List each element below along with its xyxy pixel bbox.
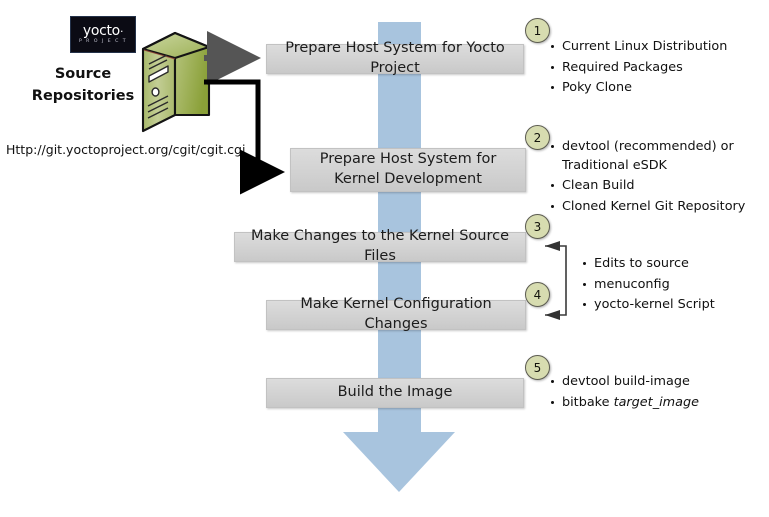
step-number-badge-5: 5 [525,355,550,380]
note-item: devtool (recommended) or Traditional eSD… [550,138,765,175]
notes-step-1: Current Linux DistributionRequired Packa… [550,38,765,100]
source-repositories-label: Source Repositories [18,64,148,108]
source-label-line1: Source [18,64,148,86]
yocto-project-logo: yocto· P R O J E C T [70,16,136,53]
bracket-arrow-step3 [545,241,560,251]
note-item: devtool build-image [550,373,765,392]
note-item: Clean Build [550,177,765,196]
step-box-prepare-host-kernel[interactable]: Prepare Host System for Kernel Developme… [290,148,526,192]
bracket-arrow-step4 [545,310,560,320]
notes-list-2: devtool (recommended) or Traditional eSD… [550,138,765,216]
step-number-badge-1: 1 [525,18,550,43]
yocto-logo-text: yocto [83,23,120,39]
note-item: Current Linux Distribution [550,38,765,57]
connector-server-to-step2 [204,82,280,172]
note-item: Poky Clone [550,79,765,98]
yocto-logo-subtext: P R O J E C T [79,40,127,45]
note-item: Cloned Kernel Git Repository [550,198,765,217]
notes-list-1: Current Linux DistributionRequired Packa… [550,38,765,98]
note-item: menuconfig [582,276,762,295]
notes-list-5: devtool build-imagebitbake target_image [550,373,765,412]
main-flow-arrow-head [343,432,455,492]
notes-step-2: devtool (recommended) or Traditional eSD… [550,138,765,218]
step-box-make-kernel-source-changes[interactable]: Make Changes to the Kernel Source Files [234,232,526,262]
server-tower-icon [140,27,212,134]
bracket-steps-3-4 [545,246,566,315]
step-number-badge-4: 4 [525,282,550,307]
step-number-badge-3: 3 [525,214,550,239]
step-box-make-kernel-config-changes[interactable]: Make Kernel Configuration Changes [266,300,526,330]
notes-steps-3-and-4: Edits to sourcemenuconfigyocto-kernel Sc… [582,255,762,317]
note-item: Edits to source [582,255,762,274]
notes-list-3-4: Edits to sourcemenuconfigyocto-kernel Sc… [582,255,762,315]
yocto-logo-dot: · [120,25,123,38]
notes-step-5: devtool build-imagebitbake target_image [550,373,765,414]
note-item: bitbake target_image [550,394,765,413]
source-repository-url: Http://git.yoctoproject.org/cgit/cgit.cg… [6,142,245,157]
note-item: yocto-kernel Script [582,296,762,315]
diagram-canvas: yocto· P R O J E C T Source Repositories… [0,0,769,517]
note-item: Required Packages [550,59,765,78]
step-box-build-the-image[interactable]: Build the Image [266,378,524,408]
step-box-prepare-host-yocto[interactable]: Prepare Host System for Yocto Project [266,44,524,74]
note-item-emphasis: target_image [614,395,699,410]
step-number-badge-2: 2 [525,125,550,150]
source-label-line2: Repositories [18,86,148,108]
yocto-logo-wordmark: yocto· [83,24,123,38]
